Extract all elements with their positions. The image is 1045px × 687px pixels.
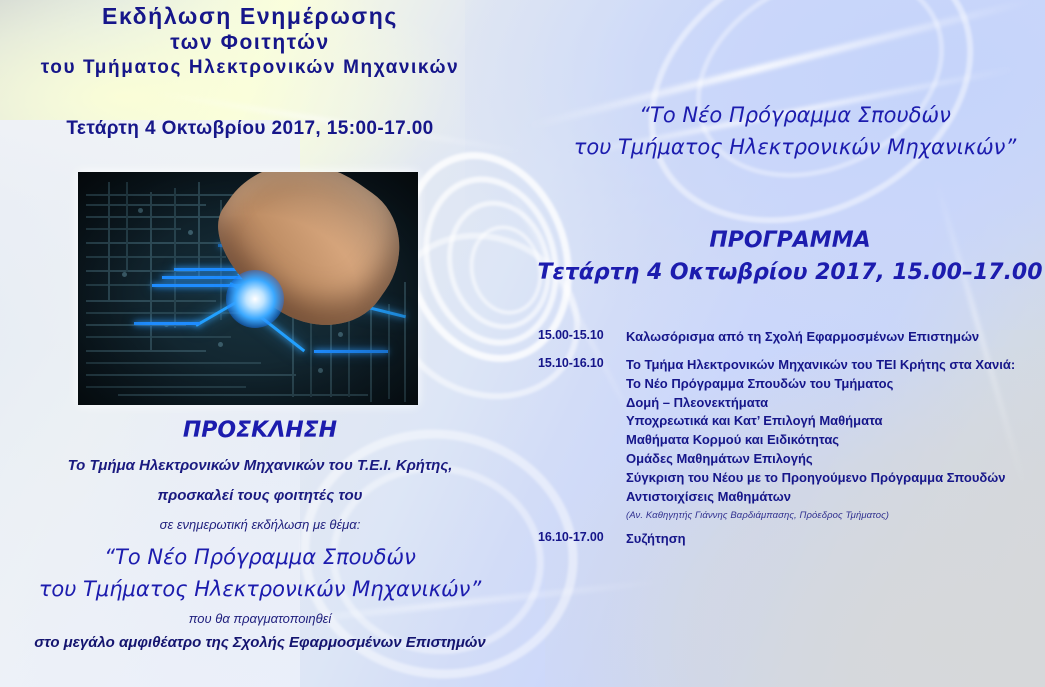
invitation-topic-line-2: του Τμήματος Ηλεκτρονικών Μηχανικών” xyxy=(0,574,520,606)
photo-vignette xyxy=(78,172,418,405)
circuit-board-photo xyxy=(78,172,418,405)
header-line-1: Εκδήλωση Ενημέρωσης xyxy=(0,2,500,30)
schedule-line: Το Τμήμα Ηλεκτρονικών Μηχανικών του ΤΕΙ … xyxy=(626,356,1043,375)
program-schedule: 15.00-15.10 Καλωσόρισμα από τη Σχολή Εφα… xyxy=(538,328,1043,557)
schedule-line: Το Νέο Πρόγραμμα Σπουδών του Τμήματος xyxy=(626,375,1043,394)
invitation-line-2: προσκαλεί τους φοιτητές του xyxy=(0,487,520,504)
schedule-body: Συζήτηση xyxy=(626,530,1043,549)
schedule-line: Καλωσόρισμα από τη Σχολή Εφαρμοσμένων Επ… xyxy=(626,328,1043,347)
schedule-body: Το Τμήμα Ηλεκτρονικών Μηχανικών του ΤΕΙ … xyxy=(626,356,1043,521)
schedule-time: 15.00-15.10 xyxy=(538,328,626,342)
schedule-line: Μαθήματα Κορμού και Ειδικότητας xyxy=(626,431,1043,450)
schedule-line: Σύγκριση του Νέου με το Προηγούμενο Πρόγ… xyxy=(626,469,1043,488)
invitation-line-3: σε ενημερωτική εκδήλωση με θέμα: xyxy=(0,517,520,532)
schedule-time: 16.10-17.00 xyxy=(538,530,626,544)
schedule-line: Υποχρεωτικά και Κατ’ Επιλογή Μαθήματα xyxy=(626,412,1043,431)
poster-header: Εκδήλωση Ενημέρωσης των Φοιτητών του Τμή… xyxy=(0,2,500,79)
invitation-block: ΠΡΟΣΚΛΗΣΗ Το Τμήμα Ηλεκτρονικών Μηχανικώ… xyxy=(0,418,520,651)
schedule-line: Συζήτηση xyxy=(626,530,1043,549)
schedule-line: Δομή – Πλεονεκτήματα xyxy=(626,394,1043,413)
invitation-title: ΠΡΟΣΚΛΗΣΗ xyxy=(0,418,520,443)
schedule-speaker-note: (Αν. Καθηγητής Γιάννης Βαρδιάμπασης, Πρό… xyxy=(626,510,1043,521)
invitation-line-5: στο μεγάλο αμφιθέατρο της Σχολής Εφαρμοσ… xyxy=(0,634,520,651)
topic-banner-line-1: “Το Νέο Πρόγραμμα Σπουδών xyxy=(545,100,1045,132)
schedule-line: Ομάδες Μαθημάτων Επιλογής xyxy=(626,450,1043,469)
program-heading: ΠΡΟΓΡΑΜΜΑ Τετάρτη 4 Οκτωβρίου 2017, 15.0… xyxy=(535,225,1045,289)
invitation-line-4: που θα πραγματοποιηθεί xyxy=(0,611,520,626)
schedule-time: 15.10-16.10 xyxy=(538,356,626,370)
header-date: Τετάρτη 4 Οκτωβρίου 2017, 15:00-17.00 xyxy=(0,118,500,140)
topic-banner: “Το Νέο Πρόγραμμα Σπουδών του Τμήματος Η… xyxy=(545,100,1045,163)
schedule-row: 15.00-15.10 Καλωσόρισμα από τη Σχολή Εφα… xyxy=(538,328,1043,347)
schedule-body: Καλωσόρισμα από τη Σχολή Εφαρμοσμένων Επ… xyxy=(626,328,1043,347)
invitation-topic-line-1: “Το Νέο Πρόγραμμα Σπουδών xyxy=(0,542,520,574)
program-title: ΠΡΟΓΡΑΜΜΑ xyxy=(535,225,1045,257)
event-poster: Εκδήλωση Ενημέρωσης των Φοιτητών του Τμή… xyxy=(0,0,1045,687)
schedule-row: 15.10-16.10 Το Τμήμα Ηλεκτρονικών Μηχανι… xyxy=(538,356,1043,521)
topic-banner-line-2: του Τμήματος Ηλεκτρονικών Μηχανικών” xyxy=(545,132,1045,164)
header-line-3: του Τμήματος Ηλεκτρονικών Μηχανικών xyxy=(0,56,500,79)
invitation-line-1: Το Τμήμα Ηλεκτρονικών Μηχανικών του Τ.Ε.… xyxy=(0,457,520,474)
header-line-2: των Φοιτητών xyxy=(0,30,500,56)
schedule-row: 16.10-17.00 Συζήτηση xyxy=(538,530,1043,549)
schedule-line: Αντιστοιχίσεις Μαθημάτων xyxy=(626,488,1043,507)
program-subtitle: Τετάρτη 4 Οκτωβρίου 2017, 15.00–17.00 xyxy=(535,257,1045,289)
